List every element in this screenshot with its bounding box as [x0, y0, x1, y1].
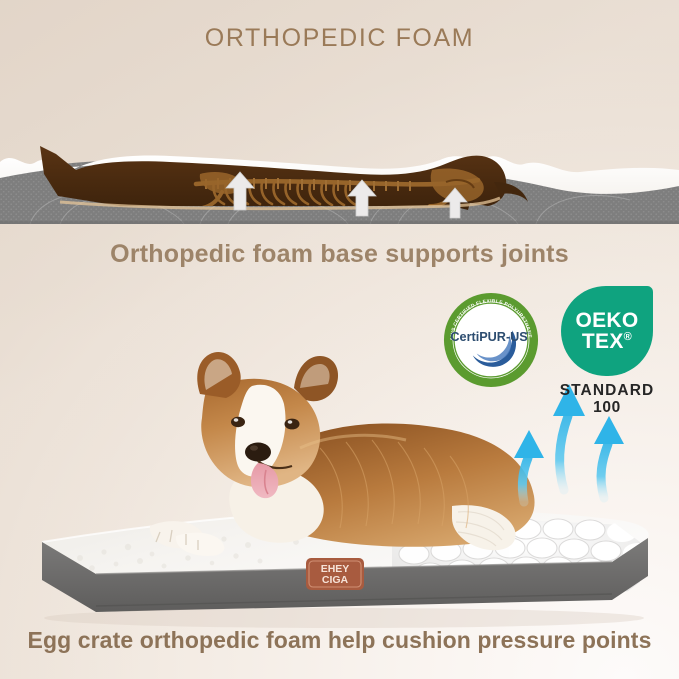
dog-right-eye: [285, 419, 300, 430]
certipur-us-badge: CONTAINS CERTIFIED FLEXIBLE POLYURETHANE…: [443, 292, 539, 388]
dog-left-eye: [231, 417, 245, 427]
bottom-caption: Egg crate orthopedic foam help cushion p…: [0, 627, 679, 654]
oeko-standard-text: STANDARD 100: [552, 382, 662, 417]
registered-mark: ®: [624, 331, 632, 343]
airflow-arrow-left: [514, 430, 544, 502]
orthopedic-foam-cross-section: [0, 78, 679, 230]
oeko-tex-badge: OEKO TEX® STANDARD 100: [552, 286, 662, 414]
certipur-main-text: CertiPUR-US: [450, 330, 527, 344]
brand-patch: EHEY CIGA: [306, 558, 364, 590]
oeko-tex-mark: OEKO TEX®: [561, 286, 653, 376]
oeko-line1: OEKO: [575, 310, 638, 331]
dog-nose: [245, 443, 271, 462]
certification-badges: CONTAINS CERTIFIED FLEXIBLE POLYURETHANE…: [440, 286, 670, 411]
oeko-line2: TEX®: [582, 331, 632, 352]
brand-patch-line2: CIGA: [322, 574, 349, 586]
standard-label: STANDARD: [552, 382, 662, 399]
standard-number: 100: [552, 399, 662, 416]
certipur-trademark: ™: [526, 331, 530, 336]
airflow-arrow-right: [594, 416, 624, 498]
page-title: ORTHOPEDIC FOAM: [0, 24, 679, 53]
infographic-canvas: ORTHOPEDIC FOAM: [0, 0, 679, 679]
mid-caption: Orthopedic foam base supports joints: [0, 240, 679, 269]
oeko-tex-label: OEKO TEX®: [561, 286, 653, 376]
